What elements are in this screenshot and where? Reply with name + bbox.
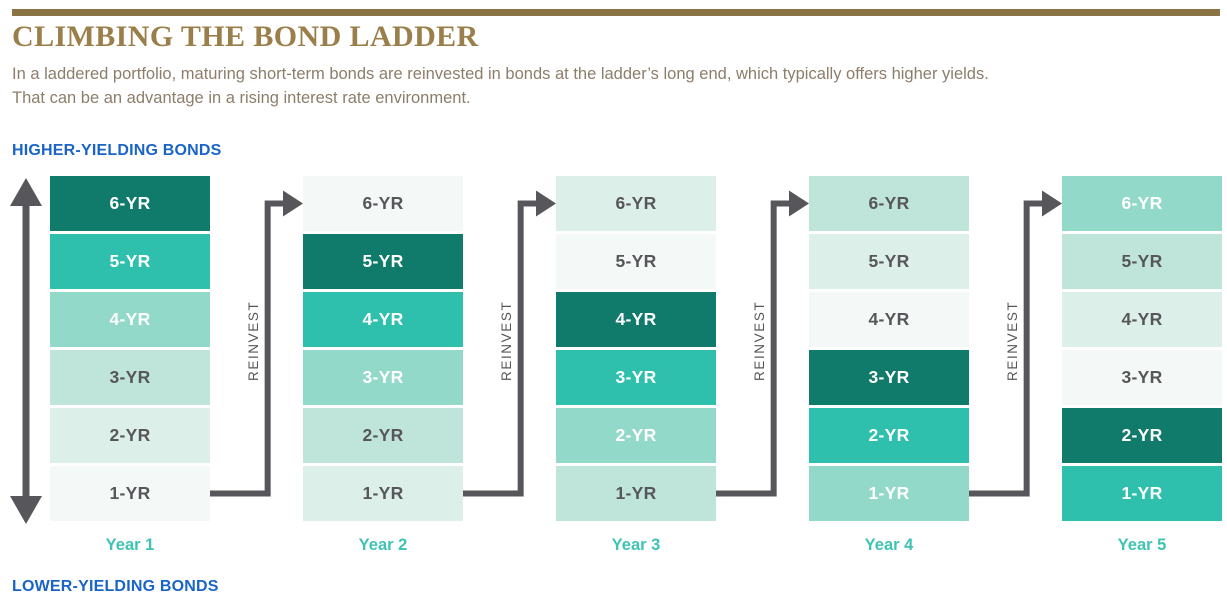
- rung-5-yr-year-4[interactable]: 5-YR: [809, 234, 969, 289]
- reinvest-connector-4: REINVEST: [969, 176, 1062, 526]
- rung-6-yr-year-1[interactable]: 6-YR: [50, 176, 210, 231]
- year-column-4: 6-YR5-YR4-YR3-YR2-YR1-YRYear 4: [809, 176, 969, 526]
- rung-2-yr-year-1[interactable]: 2-YR: [50, 408, 210, 463]
- rung-1-yr-year-4[interactable]: 1-YR: [809, 466, 969, 521]
- bond-ladder-diagram: 6-YR5-YR4-YR3-YR2-YR1-YRYear 1REINVEST6-…: [0, 176, 1227, 526]
- rung-4-yr-year-2[interactable]: 4-YR: [303, 292, 463, 347]
- rung-4-yr-year-3[interactable]: 4-YR: [556, 292, 716, 347]
- reinvest-label-3: REINVEST: [752, 301, 767, 381]
- page-description: In a laddered portfolio, maturing short-…: [12, 62, 1202, 110]
- rung-5-yr-year-5[interactable]: 5-YR: [1062, 234, 1222, 289]
- year-caption-5: Year 5: [1062, 536, 1222, 555]
- reinvest-connector-1: REINVEST: [210, 176, 303, 526]
- rung-5-yr-year-2[interactable]: 5-YR: [303, 234, 463, 289]
- rung-3-yr-year-5[interactable]: 3-YR: [1062, 350, 1222, 405]
- rung-3-yr-year-2[interactable]: 3-YR: [303, 350, 463, 405]
- rung-3-yr-year-3[interactable]: 3-YR: [556, 350, 716, 405]
- gold-accent-rule: [12, 9, 1220, 16]
- reinvest-label-2: REINVEST: [499, 301, 514, 381]
- page-title: CLIMBING THE BOND LADDER: [12, 20, 479, 54]
- year-column-2: 6-YR5-YR4-YR3-YR2-YR1-YRYear 2: [303, 176, 463, 526]
- year-caption-2: Year 2: [303, 536, 463, 555]
- reinvest-label-4: REINVEST: [1005, 301, 1020, 381]
- rung-1-yr-year-3[interactable]: 1-YR: [556, 466, 716, 521]
- year-column-5: 6-YR5-YR4-YR3-YR2-YR1-YRYear 5: [1062, 176, 1222, 526]
- rung-4-yr-year-5[interactable]: 4-YR: [1062, 292, 1222, 347]
- reinvest-connector-2: REINVEST: [463, 176, 556, 526]
- rung-5-yr-year-1[interactable]: 5-YR: [50, 234, 210, 289]
- year-caption-1: Year 1: [50, 536, 210, 555]
- rung-2-yr-year-4[interactable]: 2-YR: [809, 408, 969, 463]
- rung-6-yr-year-4[interactable]: 6-YR: [809, 176, 969, 231]
- year-caption-4: Year 4: [809, 536, 969, 555]
- rung-2-yr-year-5[interactable]: 2-YR: [1062, 408, 1222, 463]
- rung-6-yr-year-2[interactable]: 6-YR: [303, 176, 463, 231]
- reinvest-label-1: REINVEST: [246, 301, 261, 381]
- rung-2-yr-year-3[interactable]: 2-YR: [556, 408, 716, 463]
- rung-1-yr-year-2[interactable]: 1-YR: [303, 466, 463, 521]
- page-description-line-1: In a laddered portfolio, maturing short-…: [12, 62, 1202, 86]
- rung-6-yr-year-5[interactable]: 6-YR: [1062, 176, 1222, 231]
- rung-6-yr-year-3[interactable]: 6-YR: [556, 176, 716, 231]
- reinvest-connector-3: REINVEST: [716, 176, 809, 526]
- rung-1-yr-year-5[interactable]: 1-YR: [1062, 466, 1222, 521]
- year-caption-3: Year 3: [556, 536, 716, 555]
- rung-1-yr-year-1[interactable]: 1-YR: [50, 466, 210, 521]
- higher-yielding-bonds-label: HIGHER-YIELDING BONDS: [12, 142, 222, 160]
- year-column-3: 6-YR5-YR4-YR3-YR2-YR1-YRYear 3: [556, 176, 716, 526]
- rung-4-yr-year-1[interactable]: 4-YR: [50, 292, 210, 347]
- rung-4-yr-year-4[interactable]: 4-YR: [809, 292, 969, 347]
- rung-5-yr-year-3[interactable]: 5-YR: [556, 234, 716, 289]
- page-description-line-2: That can be an advantage in a rising int…: [12, 86, 1202, 110]
- rung-3-yr-year-4[interactable]: 3-YR: [809, 350, 969, 405]
- rung-3-yr-year-1[interactable]: 3-YR: [50, 350, 210, 405]
- lower-yielding-bonds-label: LOWER-YIELDING BONDS: [12, 578, 219, 596]
- year-column-1: 6-YR5-YR4-YR3-YR2-YR1-YRYear 1: [50, 176, 210, 526]
- rung-2-yr-year-2[interactable]: 2-YR: [303, 408, 463, 463]
